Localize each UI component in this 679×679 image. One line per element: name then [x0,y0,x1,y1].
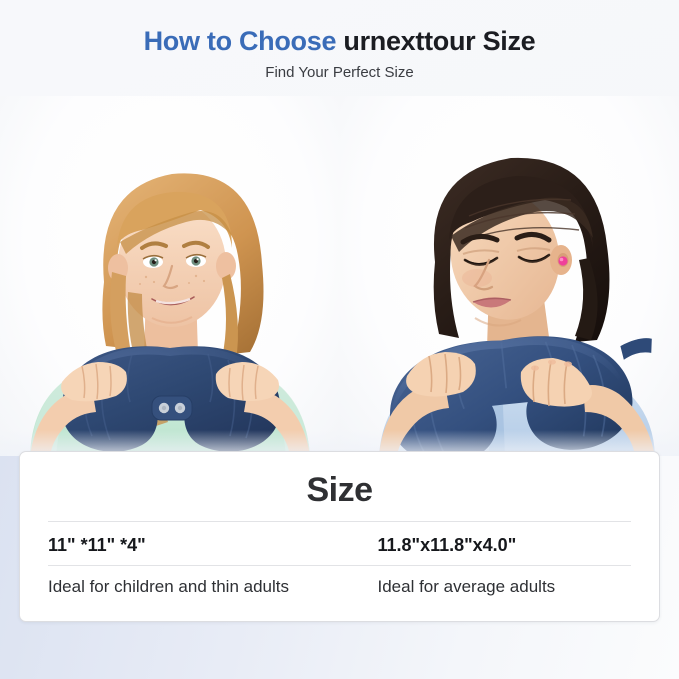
size-description-row: Ideal for children and thin adults Ideal… [48,566,631,599]
page-title: How to Choose urnexttour Size [0,24,679,58]
size-cell-dimensions-large: 11.8"x11.8"x4.0" [340,522,632,565]
size-card: Size 11" *11" *4" 11.8"x11.8"x4.0" Ideal… [19,451,660,622]
size-cell-description-small: Ideal for children and thin adults [48,566,340,599]
photo-adult [339,96,679,456]
size-dimensions-large: 11.8"x11.8"x4.0" [378,522,618,565]
header: How to Choose urnexttour Size Find Your … [0,0,679,96]
page-title-highlight: How to Choose [144,26,337,56]
size-dimensions-row: 11" *11" *4" 11.8"x11.8"x4.0" [48,522,631,565]
infographic-page: How to Choose urnexttour Size Find Your … [0,0,679,679]
photo-adult-scene [339,96,679,456]
size-cell-dimensions-small: 11" *11" *4" [48,522,340,565]
earplug [558,256,567,265]
child-illustration [0,96,340,456]
size-dimensions-small: 11" *11" *4" [48,522,326,565]
photo-child [0,96,340,456]
size-table: 11" *11" *4" 11.8"x11.8"x4.0" Ideal for … [48,522,631,599]
size-description-small: Ideal for children and thin adults [48,566,326,599]
page-title-rest: urnexttour Size [336,26,535,56]
size-card-heading: Size [48,468,631,512]
page-subtitle: Find Your Perfect Size [0,64,679,81]
adult-illustration [339,96,679,456]
product-photo-band [0,96,679,456]
size-description-large: Ideal for average adults [378,566,618,599]
size-cell-description-large: Ideal for average adults [340,566,632,599]
photo-child-scene [0,96,340,456]
